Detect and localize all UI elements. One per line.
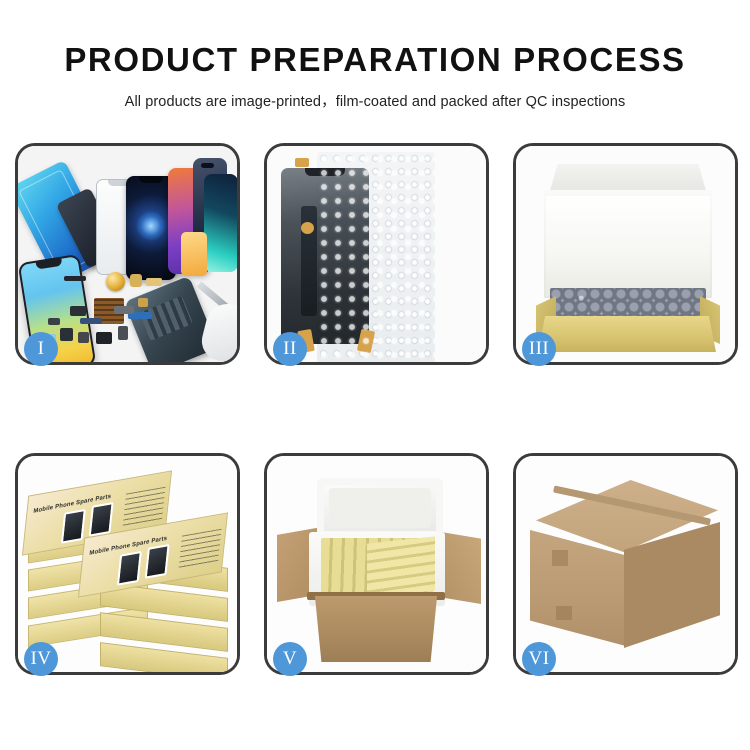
step-badge-1: I [24,332,58,366]
step-badge-3: III [522,332,556,366]
step-6-image [516,456,735,672]
step-4-image: Mobile Phone Spare Parts Mobile Phone Sp… [18,456,237,672]
foam-liner-icon [546,196,710,296]
carton-tape-upper-icon [552,550,568,566]
part-small-chip-icon [48,318,60,325]
box-artwork-screen-icon [89,502,114,537]
process-step-3: III [513,143,738,365]
part-ic-icon [60,328,73,341]
step-badge-2: II [273,332,307,366]
process-step-2: II [264,143,489,365]
process-step-4: Mobile Phone Spare Parts Mobile Phone Sp… [15,453,240,675]
part-speaker-icon [64,276,86,281]
foam-lid-icon [317,478,443,538]
part-bracket-icon [114,306,134,314]
process-step-5: V [264,453,489,675]
page-title: PRODUCT PREPARATION PROCESS [0,43,750,76]
box-artwork-screen-icon [61,509,86,544]
header: PRODUCT PREPARATION PROCESS All products… [0,0,750,111]
carton-front-icon [311,596,441,662]
tape-top-icon [295,158,309,167]
process-step-6: VI [513,453,738,675]
carton-with-foam-scene [267,456,486,672]
vibration-motor-icon [106,272,125,291]
step-badge-4: IV [24,642,58,676]
process-step-1: I [15,143,240,365]
part-sensor-icon [118,326,128,340]
carton-tape-lower-icon [556,606,572,620]
bubble-wrapped-screen-scene [267,146,486,362]
teal-phone-icon [204,174,237,272]
box-spec-lines [179,529,222,569]
part-flex-gold-icon [146,278,162,286]
stacked-boxes-scene: Mobile Phone Spare Parts Mobile Phone Sp… [18,456,237,672]
box-artwork-screen-icon [117,551,142,586]
part-button-icon [78,332,89,343]
sealed-carton-scene [516,456,735,672]
part-flex-blue-icon [80,318,102,324]
phone-parts-collage-scene [18,146,237,362]
page-subtitle: All products are image-printed，film-coat… [0,90,750,111]
box-front-wall-icon [538,316,716,352]
product-preparation-infographic: PRODUCT PREPARATION PROCESS All products… [0,0,750,750]
open-box-scene [516,146,735,362]
part-connector-icon [130,274,142,287]
box-artwork-screen-icon [145,544,170,579]
step-2-image [267,146,486,362]
step-3-image [516,146,735,362]
tape-mid-icon [301,222,314,234]
step-5-image [267,456,486,672]
process-step-grid: I II [15,143,738,674]
yellow-boxes-stack-icon [367,536,435,597]
box-stack: Mobile Phone Spare Parts Mobile Phone Sp… [24,474,232,664]
step-badge-6: VI [522,642,556,676]
part-camera-icon [70,306,86,316]
bubble-texture-overlay [317,152,435,362]
part-module-icon [96,332,112,344]
step-badge-5: V [273,642,307,676]
part-gold-contact-icon [138,298,148,307]
gold-phone-icon [181,232,207,276]
box-spec-lines [123,487,166,527]
step-1-image [18,146,237,362]
